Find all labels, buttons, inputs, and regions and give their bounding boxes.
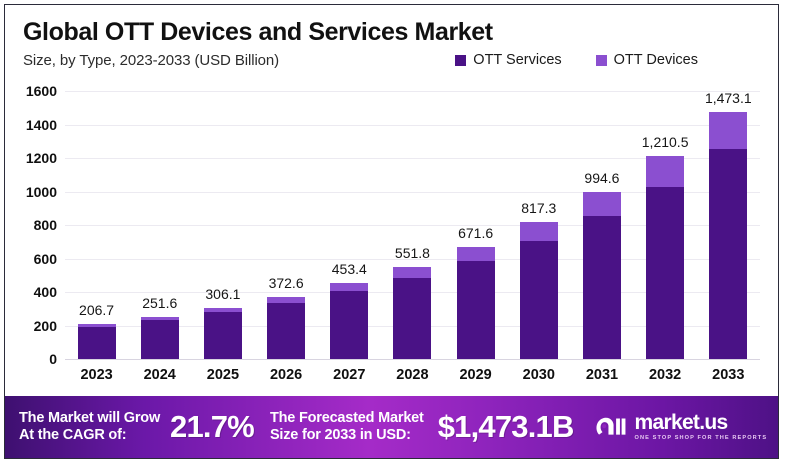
bar-segment-ott-devices[interactable] [330,283,368,291]
bar-value-label: 551.8 [395,245,430,261]
brand-logo[interactable]: market.us ONE STOP SHOP FOR THE REPORTS [594,412,768,442]
market-us-mark-icon [594,414,628,440]
y-axis: 02004006008001000120014001600 [5,91,63,359]
bar-stack[interactable] [393,267,431,359]
bar-column[interactable]: 453.4 [330,91,368,359]
bar-value-label: 306.1 [205,286,240,302]
y-axis-tick-label: 1200 [26,150,57,166]
bar-segment-ott-devices[interactable] [520,222,558,240]
bar-segment-ott-services[interactable] [646,187,684,359]
legend-label: OTT Devices [614,52,698,68]
bar-value-label: 372.6 [269,275,304,291]
bar-segment-ott-services[interactable] [457,261,495,359]
forecast-label-line2: Size for 2033 in USD: [270,427,424,444]
bar-segment-ott-services[interactable] [141,320,179,359]
bar-segment-ott-services[interactable] [583,216,621,359]
chart-header: Global OTT Devices and Services Market S… [5,5,778,79]
x-axis-tick-label: 2029 [457,367,495,383]
bar-segment-ott-services[interactable] [393,278,431,359]
forecast-label-line1: The Forecasted Market [270,410,424,427]
bar-value-label: 251.6 [142,295,177,311]
bar-segment-ott-services[interactable] [709,149,747,359]
x-axis-tick-label: 2025 [204,367,242,383]
y-axis-tick-label: 1400 [26,117,57,133]
square-swatch-icon [596,55,607,66]
bar-column[interactable]: 817.3 [520,91,558,359]
bar-segment-ott-services[interactable] [204,312,242,359]
chart-plot-area: 02004006008001000120014001600 206.7251.6… [5,79,766,396]
y-axis-tick-label: 1000 [26,184,57,200]
bar-segment-ott-devices[interactable] [583,192,621,215]
x-axis-tick-label: 2024 [141,367,179,383]
cagr-label-line2: At the CAGR of: [19,427,160,444]
forecast-label: The Forecasted Market Size for 2033 in U… [270,410,424,444]
y-axis-tick-label: 800 [34,217,57,233]
bar-column[interactable]: 1,473.1 [709,91,747,359]
forecast-value: $1,473.1B [438,409,574,445]
cagr-label: The Market will Grow At the CAGR of: [19,410,160,444]
y-axis-tick-label: 0 [49,351,57,367]
bar-column[interactable]: 206.7 [78,91,116,359]
x-axis: 2023202420252026202720282029203020312032… [65,367,760,383]
bar-column[interactable]: 1,210.5 [646,91,684,359]
bar-stack[interactable] [267,297,305,359]
x-axis-tick-label: 2027 [330,367,368,383]
footer-bar: The Market will Grow At the CAGR of: 21.… [5,396,778,458]
cagr-label-line1: The Market will Grow [19,410,160,427]
infographic-card: Global OTT Devices and Services Market S… [4,4,779,459]
bar-column[interactable]: 994.6 [583,91,621,359]
bar-column[interactable]: 372.6 [267,91,305,359]
logo-text: market.us ONE STOP SHOP FOR THE REPORTS [635,412,768,442]
cagr-value: 21.7% [170,409,254,445]
y-axis-tick-label: 200 [34,318,57,334]
bar-value-label: 1,473.1 [705,90,752,106]
y-axis-tick-label: 600 [34,251,57,267]
x-axis-tick-label: 2028 [393,367,431,383]
bar-value-label: 453.4 [332,261,367,277]
bar-value-label: 671.6 [458,225,493,241]
logo-tagline: ONE STOP SHOP FOR THE REPORTS [635,436,768,442]
bar-stack[interactable] [141,317,179,359]
bar-segment-ott-devices[interactable] [646,156,684,186]
bar-stack[interactable] [204,308,242,359]
y-axis-tick-label: 400 [34,284,57,300]
bar-column[interactable]: 551.8 [393,91,431,359]
bar-segment-ott-services[interactable] [78,327,116,359]
x-axis-tick-label: 2023 [78,367,116,383]
bar-stack[interactable] [457,247,495,359]
legend-item-ott-devices[interactable]: OTT Devices [596,52,698,68]
bar-segment-ott-services[interactable] [267,303,305,359]
x-axis-tick-label: 2030 [520,367,558,383]
bar-stack[interactable] [709,112,747,359]
bar-value-label: 1,210.5 [642,134,689,150]
chart-legend: OTT Services OTT Devices [455,52,698,68]
logo-name: market.us [635,412,768,433]
bar-column[interactable]: 251.6 [141,91,179,359]
axis-baseline [65,359,760,360]
bar-segment-ott-devices[interactable] [393,267,431,278]
bar-column[interactable]: 306.1 [204,91,242,359]
x-axis-tick-label: 2031 [583,367,621,383]
x-axis-tick-label: 2026 [267,367,305,383]
bar-stack[interactable] [583,192,621,359]
bar-value-label: 206.7 [79,302,114,318]
square-swatch-icon [455,55,466,66]
bar-stack[interactable] [520,222,558,359]
page-title: Global OTT Devices and Services Market [23,19,760,47]
bar-value-label: 994.6 [584,170,619,186]
x-axis-tick-label: 2032 [646,367,684,383]
bar-segment-ott-services[interactable] [520,241,558,359]
x-axis-tick-label: 2033 [709,367,747,383]
y-axis-tick-label: 1600 [26,83,57,99]
bar-segment-ott-services[interactable] [330,291,368,359]
legend-label: OTT Services [473,52,561,68]
bar-stack[interactable] [646,156,684,359]
bar-segment-ott-devices[interactable] [709,112,747,149]
bar-stack[interactable] [330,283,368,359]
bar-segment-ott-devices[interactable] [457,247,495,262]
bar-stack[interactable] [78,324,116,359]
bar-series-container: 206.7251.6306.1372.6453.4551.8671.6817.3… [65,91,760,359]
bar-column[interactable]: 671.6 [457,91,495,359]
legend-item-ott-services[interactable]: OTT Services [455,52,561,68]
bar-value-label: 817.3 [521,200,556,216]
